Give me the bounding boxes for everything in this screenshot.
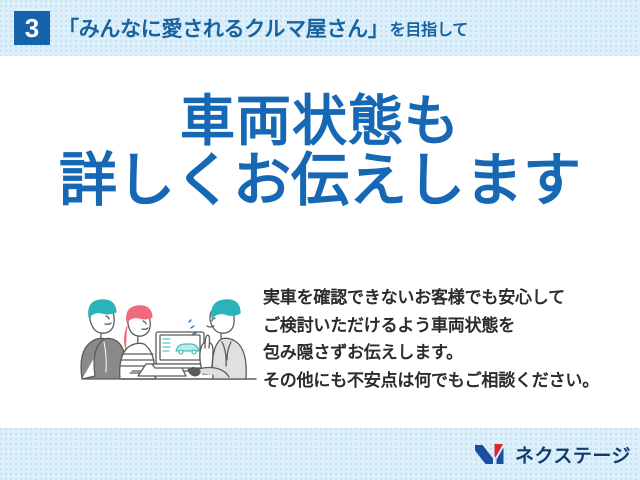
advertisement-banner: 3 「みんなに愛されるクルマ屋さん」 を目指して 車両状態も 詳しくお伝えします — [0, 0, 640, 480]
headline-line-1: 車両状態も — [0, 92, 640, 150]
header-title-tail: を目指して — [389, 16, 469, 40]
step-number-badge: 3 — [14, 11, 50, 45]
headline-line-2: 詳しくお伝えします — [0, 150, 640, 211]
staff-hand — [188, 368, 200, 376]
consultation-illustration — [60, 272, 260, 392]
woman-hair-side — [125, 327, 127, 349]
nextage-n-mark-icon — [474, 442, 508, 466]
body-copy-line-3: 包み隠さずお伝えします。 — [263, 339, 613, 367]
header-title-lead: 「みんなに愛されるクルマ屋さん」 — [58, 13, 389, 43]
page-title: 車両状態も 詳しくお伝えします — [0, 92, 640, 212]
body-copy: 実車を確認できないお客様でも安心して ご検討いただけるよう車両状態を 包み隠さず… — [263, 284, 613, 394]
body-copy-line-2: ご検討いただけるよう車両状態を — [263, 312, 613, 340]
brand-logo: ネクステージ — [474, 440, 631, 468]
brand-name: ネクステージ — [515, 441, 631, 468]
header-title: 「みんなに愛されるクルマ屋さん」 を目指して — [58, 12, 468, 44]
staff-pointing-finger — [205, 335, 210, 348]
logo-n-blue — [475, 445, 493, 464]
body-copy-line-4: その他にも不安点は何でもご相談ください。 — [263, 367, 613, 395]
laptop-base — [152, 364, 208, 368]
body-copy-line-1: 実車を確認できないお客様でも安心して — [263, 284, 613, 312]
